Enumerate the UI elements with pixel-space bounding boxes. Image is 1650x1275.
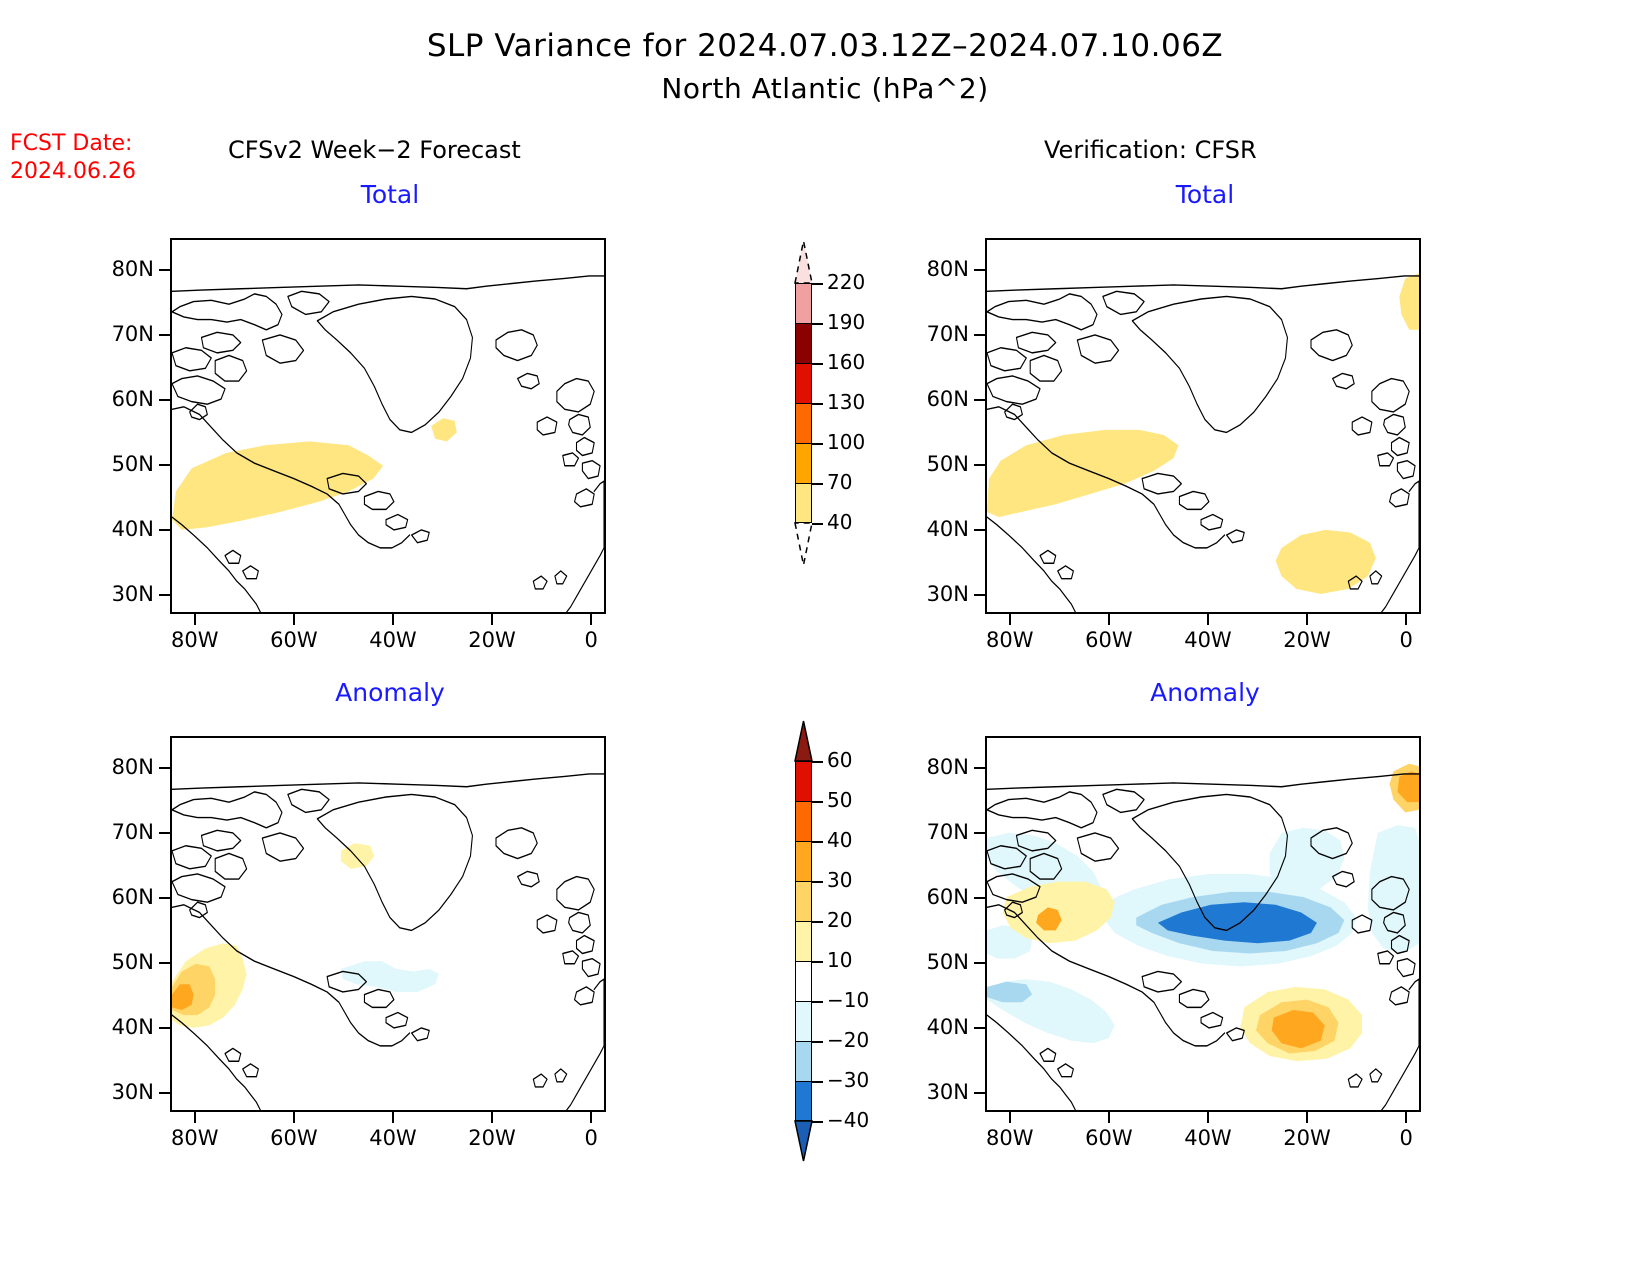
colorbar-band (795, 363, 812, 403)
colorbar-band (795, 403, 812, 443)
lat-tick (159, 464, 170, 466)
colorbar-band (795, 323, 812, 363)
lat-tick (974, 594, 985, 596)
lat-tick (159, 767, 170, 769)
lat-tick (974, 269, 985, 271)
lat-label-80N: 80N (84, 257, 154, 281)
lat-tick (159, 1027, 170, 1029)
lon-tick (491, 614, 493, 625)
colorbar-band (795, 443, 812, 483)
colorbar-tick (812, 523, 823, 525)
lon-label-20W: 20W (1267, 628, 1347, 652)
colorbar-label-220: 220 (827, 270, 865, 294)
colorbar-band (795, 801, 812, 841)
lat-label-60N: 60N (84, 885, 154, 909)
lat-tick (159, 334, 170, 336)
colorbar-band (795, 881, 812, 921)
colorbar-tick (812, 483, 823, 485)
lon-tick (590, 614, 592, 625)
lat-tick (159, 269, 170, 271)
lon-label-60W: 60W (254, 1126, 334, 1150)
colorbar-tick (812, 283, 823, 285)
colorbar-tick (812, 1041, 823, 1043)
lat-label-50N: 50N (899, 452, 969, 476)
lat-tick (159, 962, 170, 964)
colorbar-band (795, 961, 812, 1001)
lat-label-70N: 70N (84, 322, 154, 346)
lat-label-30N: 30N (899, 582, 969, 606)
colorbar-tick (812, 1081, 823, 1083)
forecast-date-label: FCST Date: 2024.06.26 (10, 130, 136, 186)
lon-label-60W: 60W (1069, 1126, 1149, 1150)
panel-title-top-right: Total (985, 180, 1425, 209)
lon-label-0: 0 (1366, 628, 1446, 652)
lat-label-60N: 60N (899, 387, 969, 411)
colorbar-band (795, 283, 812, 323)
lon-label-80W: 80W (155, 628, 235, 652)
colorbar-tick (812, 881, 823, 883)
colorbar-label-50: 50 (827, 788, 852, 812)
right-column-header: Verification: CFSR (1044, 136, 1257, 164)
colorbar-tick (812, 363, 823, 365)
lon-tick (1009, 614, 1011, 625)
lat-label-50N: 50N (899, 950, 969, 974)
colorbar-tick (812, 921, 823, 923)
colorbar-band (795, 1081, 812, 1121)
lat-label-30N: 30N (84, 1080, 154, 1104)
lat-tick (974, 897, 985, 899)
colorbar-label-30: 30 (827, 868, 852, 892)
colorbar-label-−40: −40 (827, 1108, 869, 1132)
lat-tick (974, 399, 985, 401)
lat-label-80N: 80N (899, 755, 969, 779)
colorbar-tick (812, 1121, 823, 1123)
colorbar-tick (812, 841, 823, 843)
lon-tick (392, 1112, 394, 1123)
lat-label-80N: 80N (84, 755, 154, 779)
left-column-header: CFSv2 Week−2 Forecast (228, 136, 521, 164)
lat-tick (159, 897, 170, 899)
colorbar-tick (812, 323, 823, 325)
lat-tick (159, 1092, 170, 1094)
lat-label-70N: 70N (899, 322, 969, 346)
lon-tick (194, 1112, 196, 1123)
lon-tick (491, 1112, 493, 1123)
colorbar-extend-arrow (795, 1121, 812, 1161)
colorbar-label-−20: −20 (827, 1028, 869, 1052)
lat-label-30N: 30N (84, 582, 154, 606)
colorbar-extend-arrow (795, 523, 812, 565)
lon-label-0: 0 (551, 628, 631, 652)
colorbar-label-70: 70 (827, 470, 852, 494)
colorbar-label-20: 20 (827, 908, 852, 932)
lon-label-40W: 40W (353, 628, 433, 652)
lat-tick (974, 529, 985, 531)
lat-tick (974, 962, 985, 964)
lat-tick (974, 464, 985, 466)
lon-label-0: 0 (1366, 1126, 1446, 1150)
lon-tick (1207, 614, 1209, 625)
colorbar-band (795, 841, 812, 881)
page-title-line2: North Atlantic (hPa^2) (0, 72, 1650, 105)
lat-label-60N: 60N (84, 387, 154, 411)
lon-label-40W: 40W (353, 1126, 433, 1150)
colorbar-label-130: 130 (827, 390, 865, 414)
lon-label-20W: 20W (452, 1126, 532, 1150)
map-panel-bottom-left-anomaly (170, 736, 606, 1112)
map-panel-bottom-right-anomaly (985, 736, 1421, 1112)
panel-title-bottom-right: Anomaly (985, 678, 1425, 707)
lat-tick (974, 767, 985, 769)
lon-tick (1405, 1112, 1407, 1123)
lon-tick (392, 614, 394, 625)
lat-label-40N: 40N (899, 517, 969, 541)
colorbar-band (795, 1001, 812, 1041)
colorbar-extend-arrow (795, 241, 812, 283)
lat-label-40N: 40N (84, 1015, 154, 1039)
colorbar-tick (812, 403, 823, 405)
lon-label-60W: 60W (254, 628, 334, 652)
colorbar-tick (812, 443, 823, 445)
lat-tick (974, 832, 985, 834)
lon-tick (293, 1112, 295, 1123)
colorbar-label-10: 10 (827, 948, 852, 972)
lon-tick (1306, 1112, 1308, 1123)
colorbar-label-40: 40 (827, 510, 852, 534)
colorbar-label-−30: −30 (827, 1068, 869, 1092)
lat-tick (159, 529, 170, 531)
colorbar-band (795, 761, 812, 801)
colorbar-tick (812, 761, 823, 763)
colorbar-label-60: 60 (827, 748, 852, 772)
lon-label-40W: 40W (1168, 1126, 1248, 1150)
lon-label-20W: 20W (1267, 1126, 1347, 1150)
colorbar-total: 2201901601301007040 (795, 283, 812, 523)
lat-label-60N: 60N (899, 885, 969, 909)
lon-tick (293, 614, 295, 625)
lat-tick (974, 334, 985, 336)
lon-tick (1306, 614, 1308, 625)
lon-label-80W: 80W (970, 628, 1050, 652)
panel-title-top-left: Total (170, 180, 610, 209)
lat-tick (159, 832, 170, 834)
lat-label-40N: 40N (84, 517, 154, 541)
colorbar-band (795, 1041, 812, 1081)
lat-tick (974, 1027, 985, 1029)
lon-tick (1108, 614, 1110, 625)
colorbar-label-160: 160 (827, 350, 865, 374)
colorbar-band (795, 483, 812, 523)
lon-label-80W: 80W (155, 1126, 235, 1150)
lon-tick (1207, 1112, 1209, 1123)
lon-label-0: 0 (551, 1126, 631, 1150)
lon-label-80W: 80W (970, 1126, 1050, 1150)
lat-label-50N: 50N (84, 452, 154, 476)
colorbar-tick (812, 961, 823, 963)
lat-label-30N: 30N (899, 1080, 969, 1104)
lon-tick (590, 1112, 592, 1123)
colorbar-tick (812, 801, 823, 803)
colorbar-anomaly: 605040302010−10−20−30−40 (795, 761, 812, 1121)
lat-tick (974, 1092, 985, 1094)
colorbar-extend-arrow (795, 721, 812, 761)
lat-label-70N: 70N (84, 820, 154, 844)
lon-label-60W: 60W (1069, 628, 1149, 652)
lat-label-50N: 50N (84, 950, 154, 974)
lon-label-40W: 40W (1168, 628, 1248, 652)
colorbar-label-190: 190 (827, 310, 865, 334)
page-title-line1: SLP Variance for 2024.07.03.12Z–2024.07.… (0, 28, 1650, 64)
lat-tick (159, 594, 170, 596)
lat-label-80N: 80N (899, 257, 969, 281)
lon-tick (194, 614, 196, 625)
colorbar-tick (812, 1001, 823, 1003)
lat-label-40N: 40N (899, 1015, 969, 1039)
lat-label-70N: 70N (899, 820, 969, 844)
lon-tick (1009, 1112, 1011, 1123)
lon-tick (1405, 614, 1407, 625)
lon-tick (1108, 1112, 1110, 1123)
colorbar-label-100: 100 (827, 430, 865, 454)
colorbar-band (795, 921, 812, 961)
colorbar-label-40: 40 (827, 828, 852, 852)
map-panel-top-left-total (170, 238, 606, 614)
colorbar-label-−10: −10 (827, 988, 869, 1012)
lat-tick (159, 399, 170, 401)
map-panel-top-right-total (985, 238, 1421, 614)
lon-label-20W: 20W (452, 628, 532, 652)
panel-title-bottom-left: Anomaly (170, 678, 610, 707)
